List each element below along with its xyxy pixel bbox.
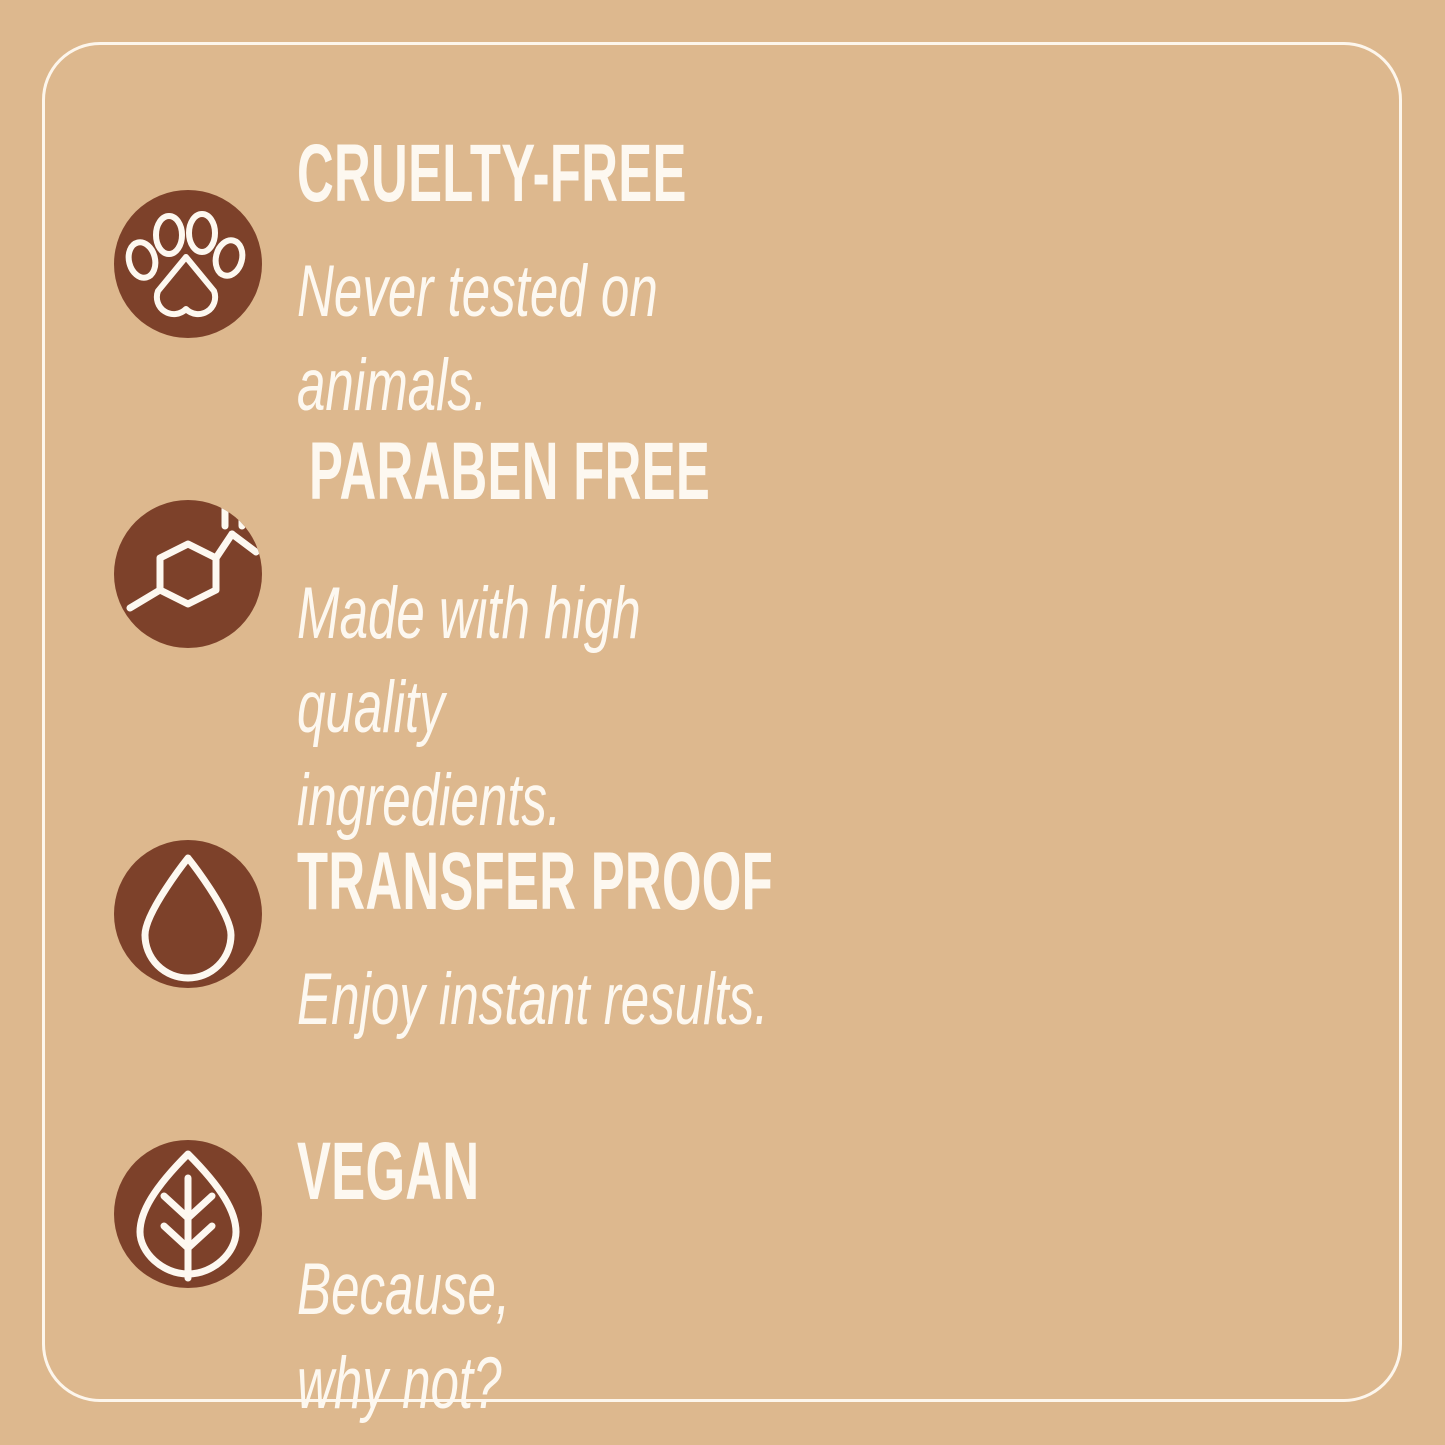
feature-title: PARABEN FREE (309, 438, 710, 505)
leaf-icon (114, 1140, 262, 1288)
paw-print-badge (114, 190, 262, 338)
feature-text-vegan: VEGAN Because, why not? (297, 1138, 601, 1430)
feature-title: VEGAN (297, 1138, 486, 1205)
product-benefits-poster: CRUELTY-FREE Never tested on animals. (0, 0, 1445, 1445)
feature-text-cruelty-free: CRUELTY-FREE Never tested on animals. (297, 140, 926, 432)
feature-title: CRUELTY-FREE (297, 140, 687, 207)
feature-text-paraben-free: PARABEN FREE Made with high quality ingr… (297, 438, 956, 848)
feature-text-transfer-proof: TRANSFER PROOF Enjoy instant results. (297, 848, 1065, 1047)
feature-description: Made with high quality ingredients. (297, 567, 758, 847)
feature-title: TRANSFER PROOF (297, 848, 773, 915)
feature-description: Never tested on animals. (297, 245, 737, 432)
leaf-badge (114, 1140, 262, 1288)
paw-print-icon (114, 190, 262, 338)
water-droplet-icon (114, 840, 262, 988)
water-droplet-badge (114, 840, 262, 988)
feature-description: Because, why not? (297, 1243, 510, 1430)
molecule-icon (114, 500, 262, 648)
molecule-badge (114, 500, 262, 648)
feature-description: Enjoy instant results. (297, 953, 834, 1046)
